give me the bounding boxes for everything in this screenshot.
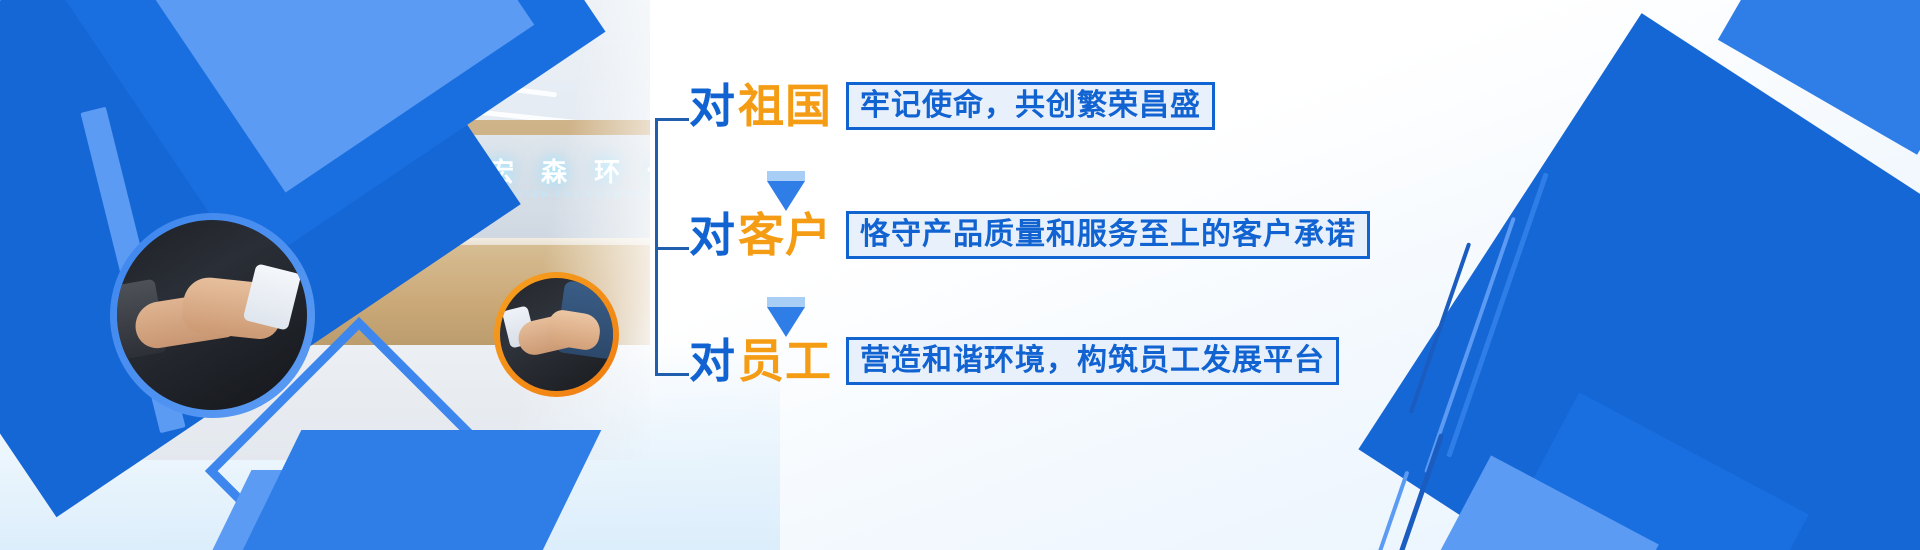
value-lead-1: 对祖国 (689, 83, 832, 129)
value-tag-text-1: 牢记使命，共创繁荣昌盛 (860, 89, 1201, 122)
teamwork-photo-circle (500, 278, 613, 391)
value-object-2: 客户 (738, 208, 832, 262)
arrow-cap (767, 171, 805, 181)
company-sign-name: 宏 森 环 保 (488, 152, 650, 189)
value-row-3: 对员工 营造和谐环境，构筑员工发展平台 (689, 337, 1339, 385)
arrow-triangle (767, 307, 805, 337)
value-prefix-1: 对 (689, 79, 736, 133)
value-lead-2: 对客户 (689, 212, 832, 258)
arrow-cap (767, 297, 805, 307)
value-tag-text-3: 营造和谐环境，构筑员工发展平台 (860, 344, 1325, 377)
shirt-cuff (243, 263, 302, 330)
value-tag-box-3: 营造和谐环境，构筑员工发展平台 (846, 337, 1339, 385)
company-values-banner: 宏 森 环 保 HONGSEN ENVIRONMENTAL (0, 0, 1920, 550)
value-lead-3: 对员工 (689, 338, 832, 384)
connector-stub (655, 247, 689, 250)
connector-stub (655, 373, 689, 376)
value-prefix-2: 对 (689, 208, 736, 262)
arrow-triangle (767, 181, 805, 211)
value-object-1: 祖国 (738, 79, 832, 133)
value-tag-box-1: 牢记使命，共创繁荣昌盛 (846, 82, 1215, 130)
values-list: 对祖国 牢记使命，共创繁荣昌盛 对客户 恪守产品质量和服务至上的客户承诺 (655, 78, 1375, 408)
handshake-photo-circle (117, 220, 307, 410)
value-tag-text-2: 恪守产品质量和服务至上的客户承诺 (860, 218, 1356, 251)
value-object-3: 员工 (738, 334, 832, 388)
value-row-2: 对客户 恪守产品质量和服务至上的客户承诺 (689, 211, 1370, 259)
value-prefix-3: 对 (689, 334, 736, 388)
value-tag-box-2: 恪守产品质量和服务至上的客户承诺 (846, 211, 1370, 259)
connector-stub (655, 118, 689, 121)
value-row-1: 对祖国 牢记使命，共创繁荣昌盛 (689, 82, 1215, 130)
